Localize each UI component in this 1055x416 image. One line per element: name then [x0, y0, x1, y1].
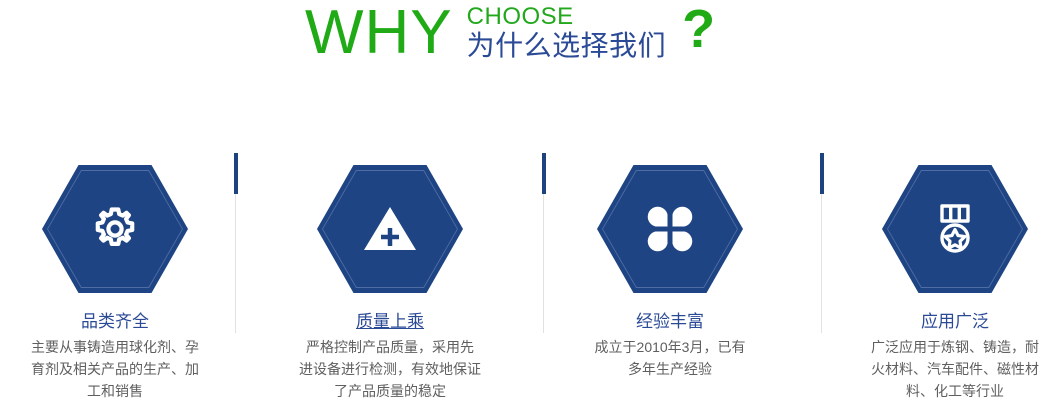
- card-description: 广泛应用于炼钢、铸造，耐 火材料、汽车配件、磁性材 料、化工等行业: [840, 336, 1055, 402]
- card-description: 主要从事铸造用球化剂、孕 育剂及相关产品的生产、加 工和销售: [0, 336, 230, 402]
- heading-subtitle-zh: 为什么选择我们: [467, 30, 667, 62]
- desc-line: 育剂及相关产品的生产、加: [0, 358, 230, 380]
- card-title: 应用广泛: [840, 311, 1055, 333]
- feature-card-3[interactable]: 经验丰富 成立于2010年3月，已有 多年生产经验: [555, 150, 785, 380]
- hexagon-badge-3: [597, 165, 743, 293]
- desc-line: 多年生产经验: [555, 358, 785, 380]
- desc-line: 了产品质量的稳定: [275, 380, 505, 402]
- heading-why: WHY: [305, 2, 453, 64]
- feature-card-4[interactable]: 应用广泛 广泛应用于炼钢、铸造，耐 火材料、汽车配件、磁性材 料、化工等行业: [840, 150, 1055, 402]
- card-title: 品类齐全: [0, 311, 230, 333]
- desc-line: 火材料、汽车配件、磁性材: [840, 358, 1055, 380]
- gear-icon: [42, 165, 188, 293]
- card-description: 严格控制产品质量，采用先 进设备进行检测，有效地保证 了产品质量的稳定: [275, 336, 505, 402]
- heading-inner: WHY CHOOSE 为什么选择我们 ?: [305, 2, 715, 68]
- page-heading: WHY CHOOSE 为什么选择我们 ?: [0, 0, 1055, 90]
- medal-icon: [882, 165, 1028, 293]
- card-title: 质量上乘: [275, 311, 505, 333]
- triangle-plus-icon: [317, 165, 463, 293]
- heading-text-stack: CHOOSE 为什么选择我们: [467, 2, 667, 62]
- heading-choose: CHOOSE: [467, 4, 667, 30]
- feature-card-1[interactable]: 品类齐全 主要从事铸造用球化剂、孕 育剂及相关产品的生产、加 工和销售: [0, 150, 230, 402]
- hexagon-badge-1: [42, 165, 188, 293]
- card-title: 经验丰富: [555, 311, 785, 333]
- clover-icon: [597, 165, 743, 293]
- desc-line: 进设备进行检测，有效地保证: [275, 358, 505, 380]
- feature-cards: 品类齐全 主要从事铸造用球化剂、孕 育剂及相关产品的生产、加 工和销售 质量上乘…: [0, 150, 1055, 416]
- desc-line: 料、化工等行业: [840, 380, 1055, 402]
- desc-line: 成立于2010年3月，已有: [555, 336, 785, 358]
- feature-card-2[interactable]: 质量上乘 严格控制产品质量，采用先 进设备进行检测，有效地保证 了产品质量的稳定: [275, 150, 505, 402]
- desc-line: 严格控制产品质量，采用先: [275, 336, 505, 358]
- card-description: 成立于2010年3月，已有 多年生产经验: [555, 336, 785, 380]
- desc-line: 主要从事铸造用球化剂、孕: [0, 336, 230, 358]
- desc-line: 工和销售: [0, 380, 230, 402]
- hexagon-badge-4: [882, 165, 1028, 293]
- heading-question-mark: ?: [682, 2, 715, 68]
- hexagon-badge-2: [317, 165, 463, 293]
- desc-line: 广泛应用于炼钢、铸造，耐: [840, 336, 1055, 358]
